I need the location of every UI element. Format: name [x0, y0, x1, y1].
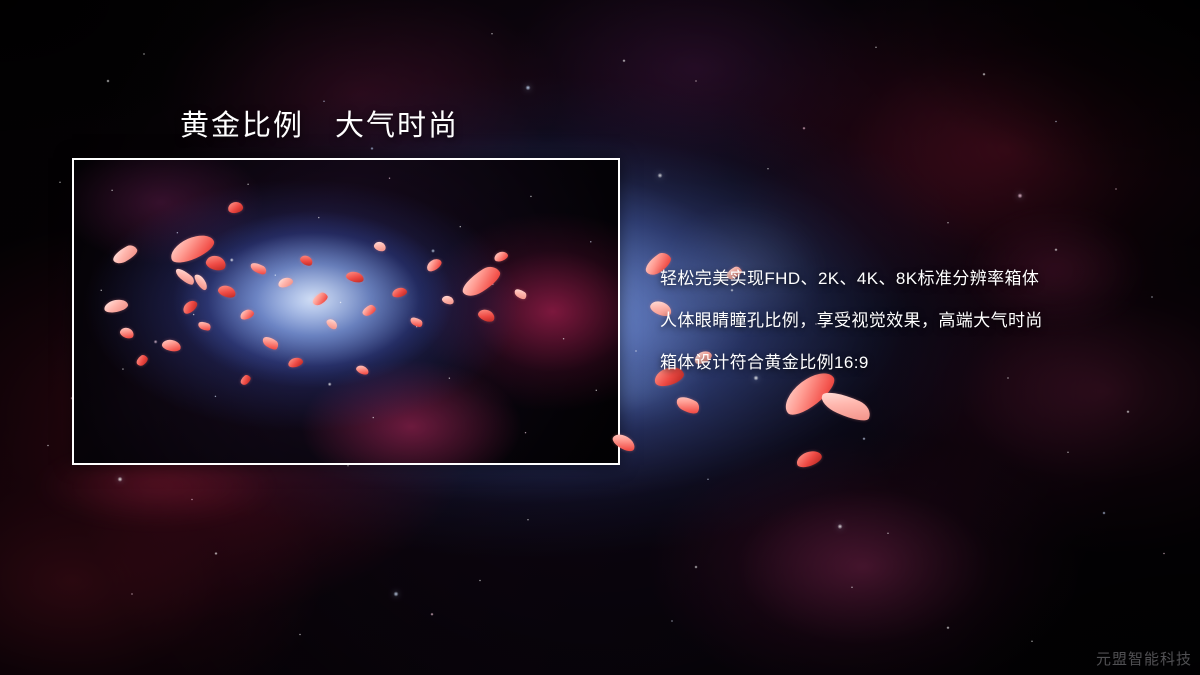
watermark: 元盟智能科技	[1096, 648, 1192, 669]
body-line-1: 轻松完美实现FHD、2K、4K、8K标准分辨率箱体	[660, 258, 1180, 300]
photo-starfield	[74, 160, 618, 463]
body-text-block: 轻松完美实现FHD、2K、4K、8K标准分辨率箱体 人体眼睛瞳孔比例，享受视觉效…	[660, 258, 1180, 384]
presentation-slide: 黄金比例 大气时尚 轻松完美实现FHD、2K、4K、8K标准分辨率箱体 人体眼睛…	[0, 0, 1200, 675]
slide-title: 黄金比例 大气时尚	[180, 102, 459, 144]
petal	[818, 386, 874, 425]
framed-photo	[72, 158, 620, 465]
body-line-2: 人体眼睛瞳孔比例，享受视觉效果，高端大气时尚	[660, 300, 1180, 342]
body-line-3: 箱体设计符合黄金比例16:9	[660, 342, 1180, 384]
petal	[674, 393, 702, 417]
petal	[794, 448, 823, 470]
